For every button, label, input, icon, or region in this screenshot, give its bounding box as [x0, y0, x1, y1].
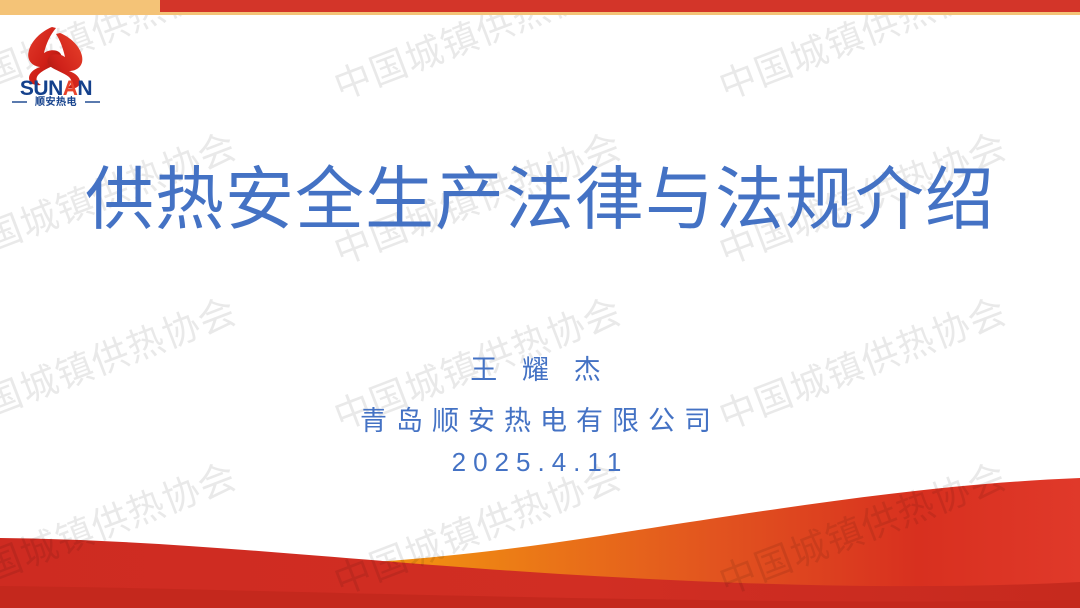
byline-block: 王 耀 杰 青岛顺安热电有限公司 2025.4.11 [0, 352, 1080, 480]
presentation-title-slide: 中国城镇供热协会中国城镇供热协会中国城镇供热协会中国城镇供热协会中国城镇供热协会… [0, 0, 1080, 608]
watermark-text: 中国城镇供热协会 [325, 0, 628, 110]
watermark-text: 中国城镇供热协会 [710, 0, 1013, 110]
bottom-wave-decoration [0, 478, 1080, 608]
presentation-date: 2025.4.11 [0, 446, 1080, 480]
sunan-company-logo: SUNAN 顺安热电 [8, 24, 104, 106]
slide-title: 供热安全生产法律与法规介绍 [0, 165, 1080, 234]
top-bar-red [160, 0, 1080, 12]
logo-subtext: 顺安热电 [35, 95, 77, 106]
author-name: 王 耀 杰 [0, 352, 1080, 388]
company-name: 青岛顺安热电有限公司 [0, 401, 1080, 442]
